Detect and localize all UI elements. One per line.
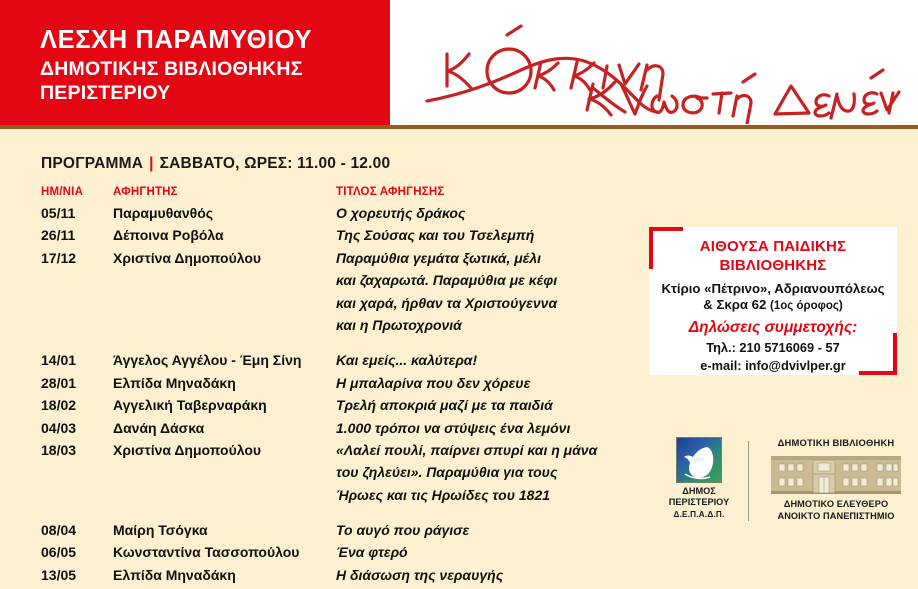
cell-date: 18/03 — [41, 442, 76, 458]
cell-title: Της Σούσας και του Τσελεμπή — [336, 227, 534, 243]
row-group-spacer — [41, 339, 651, 352]
program-separator: | — [143, 155, 160, 172]
table-row: 05/11 Παραμυθανθός Ο χορευτής δράκος — [41, 205, 651, 227]
library-sub-line-2: ΑΝΟΙΚΤΟ ΠΑΝΕΠΙΣΤΗΜΙΟ — [760, 511, 912, 523]
cell-narrator: Ελπίδα Μηναδάκη — [113, 567, 236, 583]
table-row: 26/11 Δέποινα Ροβόλα Της Σούσας και του … — [41, 227, 651, 249]
cell-title: Το αυγό που ράγισε — [336, 522, 469, 538]
cell-narrator: Κωνσταντίνα Τασσοπούλου — [113, 544, 299, 560]
municipality-logo-block: ΔΗΜΟΣ ΠΕΡΙΣΤΕΡΙΟΥ Δ.Ε.Π.Α.Δ.Π. — [660, 437, 738, 519]
cell-title: του ζηλεύει». Παραμύθια για τους — [336, 464, 557, 480]
library-title: ΔΗΜΟΤΙΚΗ ΒΙΒΛΙΟΘΗΚΗ — [760, 437, 912, 448]
title-line-3: ΠΕΡΙΣΤΕΡΙΟΥ — [40, 82, 312, 105]
table-row: 28/01 Ελπίδα Μηναδάκη Η μπαλαρίνα που δε… — [41, 375, 651, 397]
cell-title: και ζαχαρωτά. Παραμύθια με κέφι — [336, 272, 557, 288]
municipality-subcaption: Δ.Ε.Π.Α.Δ.Π. — [660, 510, 738, 519]
cell-narrator: Χριστίνα Δημοπούλου — [113, 442, 261, 458]
column-header-narrator: ΑΦΗΓΗΤΗΣ — [113, 186, 178, 198]
municipality-line-1: ΔΗΜΟΣ — [660, 486, 738, 497]
table-row-continuation: Ήρωες και τις Ηρωίδες του 1821 — [41, 487, 651, 509]
cell-narrator: Άγγελος Αγγέλου - Έμη Σίνη — [113, 352, 301, 368]
library-sub-line-1: ΔΗΜΟΤΙΚΟ ΕΛΕΥΘΕΡΟ — [760, 499, 912, 511]
cell-narrator: Αγγελική Ταβερναράκη — [113, 397, 267, 413]
schedule-table: ΗΜ/ΝΙΑ ΑΦΗΓΗΤΗΣ ΤΙΤΛΟΣ ΑΦΗΓΗΣΗΣ 05/11 Πα… — [41, 186, 651, 589]
header-divider-rule — [0, 125, 918, 129]
cell-title: Η διάσωση της νεραυγής — [336, 567, 503, 583]
venue-info-box: ΑΙΘΟΥΣΑ ΠΑΙΔΙΚΗΣ ΒΙΒΛΙΟΘΗΚΗΣ Κτίριο «Πέτ… — [649, 227, 897, 375]
cell-date: 08/04 — [41, 522, 76, 538]
venue-hall-name: ΑΙΘΟΥΣΑ ΠΑΙΔΙΚΗΣ ΒΙΒΛΙΟΘΗΚΗΣ — [649, 238, 897, 276]
cell-title: και η Πρωτοχρονιά — [336, 317, 462, 333]
program-details: ΣΑΒΒΑΤΟ, ΩΡΕΣ: 11.00 - 12.00 — [160, 155, 391, 172]
column-header-title: ΤΙΤΛΟΣ ΑΦΗΓΗΣΗΣ — [336, 186, 444, 198]
cell-date: 05/11 — [41, 205, 75, 221]
cell-narrator: Χριστίνα Δημοπούλου — [113, 250, 261, 266]
venue-hall-line-2: ΒΙΒΛΙΟΘΗΚΗΣ — [649, 257, 897, 276]
cell-title: Ένα φτερό — [336, 544, 408, 560]
footer-logos: ΔΗΜΟΣ ΠΕΡΙΣΤΕΡΙΟΥ Δ.Ε.Π.Α.Δ.Π. ΔΗΜΟΤΙΚΗ … — [660, 437, 910, 545]
cell-narrator: Παραμυθανθός — [113, 205, 213, 221]
program-line: ΠΡΟΓΡΑΜΜΑ|ΣΑΒΒΑΤΟ, ΩΡΕΣ: 11.00 - 12.00 — [41, 155, 390, 173]
cell-narrator: Δέποινα Ροβόλα — [113, 227, 224, 243]
row-group-spacer — [41, 509, 651, 522]
cell-title: Η μπαλαρίνα που δεν χόρευε — [336, 375, 530, 391]
table-row-continuation: του ζηλεύει». Παραμύθια για τους — [41, 464, 651, 486]
registration-label: Δηλώσεις συμμετοχής: — [649, 318, 897, 338]
cell-title: Παραμύθια γεμάτα ξωτικά, μέλι — [336, 250, 541, 266]
table-row: 13/05 Ελπίδα Μηναδάκη Η διάσωση της νερα… — [41, 567, 651, 589]
cell-date: 06/05 — [41, 544, 76, 560]
dove-icon — [676, 437, 722, 483]
poster-header: ΛΕΣΧΗ ΠΑΡΑΜΥΘΙΟΥ ΔΗΜΟΤΙΚΗΣ ΒΙΒΛΙΟΘΗΚΗΣ Π… — [0, 0, 918, 125]
column-header-date: ΗΜ/ΝΙΑ — [41, 186, 83, 198]
venue-address-line-2: & Σκρα 62 (1ος όροφος) — [649, 297, 897, 314]
venue-address-floor: (1ος όροφος) — [770, 300, 843, 312]
venue-hall-line-1: ΑΙΘΟΥΣΑ ΠΑΙΔΙΚΗΣ — [649, 238, 897, 257]
contact-phone[interactable]: Τηλ.: 210 5716069 - 57 — [649, 340, 897, 356]
table-row: 17/12 Χριστίνα Δημοπούλου Παραμύθια γεμά… — [41, 250, 651, 272]
page-title: ΛΕΣΧΗ ΠΑΡΑΜΥΘΙΟΥ ΔΗΜΟΤΙΚΗΣ ΒΙΒΛΙΟΘΗΚΗΣ Π… — [40, 26, 312, 105]
table-row-continuation: και ζαχαρωτά. Παραμύθια με κέφι — [41, 272, 651, 294]
municipality-caption: ΔΗΜΟΣ ΠΕΡΙΣΤΕΡΙΟΥ — [660, 486, 738, 508]
cell-title: Και εμείς... καλύτερα! — [336, 352, 477, 368]
cell-date: 17/12 — [41, 250, 76, 266]
library-building-icon — [769, 452, 903, 495]
cell-title: Ο χορευτής δράκος — [336, 205, 465, 221]
cell-date: 14/01 — [41, 352, 76, 368]
logo-divider — [748, 441, 749, 521]
cell-date: 26/11 — [41, 227, 75, 243]
table-row: 14/01 Άγγελος Αγγέλου - Έμη Σίνη Και εμε… — [41, 352, 651, 374]
table-row: 18/02 Αγγελική Ταβερναράκη Τρελή αποκριά… — [41, 397, 651, 419]
program-label: ΠΡΟΓΡΑΜΜΑ — [41, 155, 143, 172]
municipality-line-2: ΠΕΡΙΣΤΕΡΙΟΥ — [660, 497, 738, 508]
library-logo-block: ΔΗΜΟΤΙΚΗ ΒΙΒΛΙΟΘΗΚΗ — [760, 437, 912, 522]
cell-title: 1.000 τρόποι να στύψεις ένα λεμόνι — [336, 420, 570, 436]
library-subcaption: ΔΗΜΟΤΙΚΟ ΕΛΕΥΘΕΡΟ ΑΝΟΙΚΤΟ ΠΑΝΕΠΙΣΤΗΜΙΟ — [760, 499, 912, 522]
cell-narrator: Δανάη Δάσκα — [113, 420, 204, 436]
cell-title: Τρελή αποκριά μαζί με τα παιδιά — [336, 397, 553, 413]
cell-title: Ήρωες και τις Ηρωίδες του 1821 — [336, 487, 550, 503]
table-row: 18/03 Χριστίνα Δημοπούλου «Λαλεί πουλί, … — [41, 442, 651, 464]
venue-address: Κτίριο «Πέτρινο», Αδριανουπόλεως & Σκρα … — [649, 281, 897, 314]
cell-date: 04/03 — [41, 420, 76, 436]
table-header-row: ΗΜ/ΝΙΑ ΑΦΗΓΗΤΗΣ ΤΙΤΛΟΣ ΑΦΗΓΗΣΗΣ — [41, 186, 651, 205]
cell-date: 13/05 — [41, 567, 76, 583]
table-row-continuation: και η Πρωτοχρονιά — [41, 317, 651, 339]
cell-narrator: Μαίρη Τσόγκα — [113, 522, 208, 538]
kokkini-klosti-demeni-logo — [425, 8, 905, 124]
contact-email[interactable]: e-mail: info@dvivlper.gr — [649, 358, 897, 374]
title-line-1: ΛΕΣΧΗ ΠΑΡΑΜΥΘΙΟΥ — [40, 26, 312, 56]
cell-title: «Λαλεί πουλί, παίρνει σπυρί και η μάνα — [336, 442, 597, 458]
venue-address-street: & Σκρα 62 — [703, 297, 766, 312]
venue-address-line-1: Κτίριο «Πέτρινο», Αδριανουπόλεως — [649, 281, 897, 298]
title-line-2: ΔΗΜΟΤΙΚΗΣ ΒΙΒΛΙΟΘΗΚΗΣ — [40, 58, 312, 81]
cell-date: 28/01 — [41, 375, 76, 391]
table-row: 06/05 Κωνσταντίνα Τασσοπούλου Ένα φτερό — [41, 544, 651, 566]
table-row-continuation: και χαρά, ήρθαν τα Χριστούγεννα — [41, 295, 651, 317]
cell-narrator: Ελπίδα Μηναδάκη — [113, 375, 236, 391]
cell-date: 18/02 — [41, 397, 76, 413]
table-row: 08/04 Μαίρη Τσόγκα Το αυγό που ράγισε — [41, 522, 651, 544]
table-row: 04/03 Δανάη Δάσκα 1.000 τρόποι να στύψει… — [41, 420, 651, 442]
cell-title: και χαρά, ήρθαν τα Χριστούγεννα — [336, 295, 557, 311]
